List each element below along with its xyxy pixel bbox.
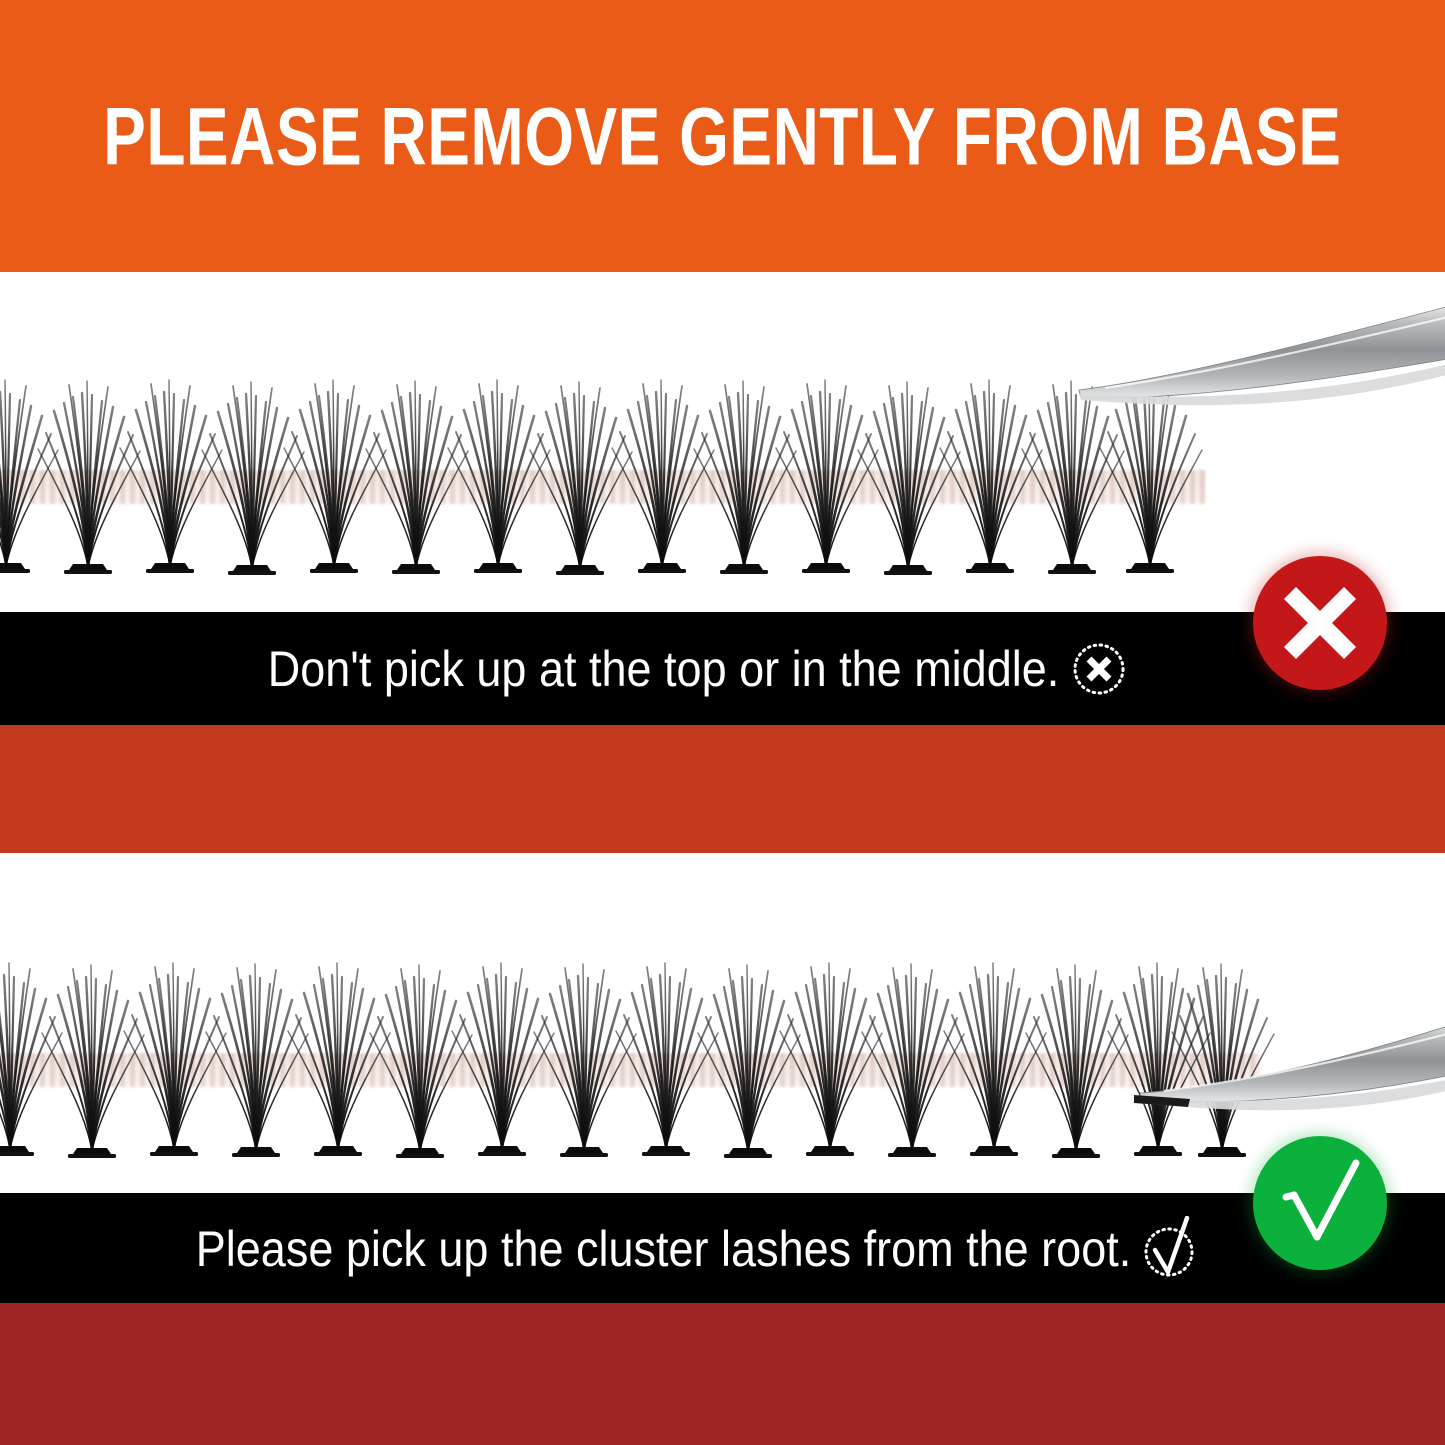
x-mark-icon (1274, 577, 1366, 669)
check-mark-icon (1270, 1153, 1370, 1253)
separator-band-bottom (0, 1303, 1445, 1445)
circled-check-icon (1141, 1216, 1201, 1280)
separator-band-middle (0, 725, 1445, 853)
lash-strip-right (0, 853, 1445, 1193)
lash-strip-wrong (0, 272, 1445, 612)
status-badge-wrong (1253, 556, 1387, 690)
header-banner: PLEASE REMOVE GENTLY FROM BASE (0, 0, 1445, 272)
lash-panel-right (0, 853, 1445, 1193)
caption-bar-right: Please pick up the cluster lashes from t… (0, 1193, 1445, 1303)
instruction-poster: PLEASE REMOVE GENTLY FROM BASE (0, 0, 1445, 1445)
lash-panel-wrong (0, 272, 1445, 612)
tweezer-wrong-icon (1065, 300, 1445, 500)
status-badge-right (1253, 1136, 1387, 1270)
caption-text-right: Please pick up the cluster lashes from t… (196, 1223, 1131, 1273)
caption-text-wrong: Don't pick up at the top or in the middl… (268, 643, 1060, 693)
caption-bar-wrong: Don't pick up at the top or in the middl… (0, 612, 1445, 725)
page-title: PLEASE REMOVE GENTLY FROM BASE (103, 95, 1341, 177)
circled-x-icon (1069, 639, 1129, 699)
